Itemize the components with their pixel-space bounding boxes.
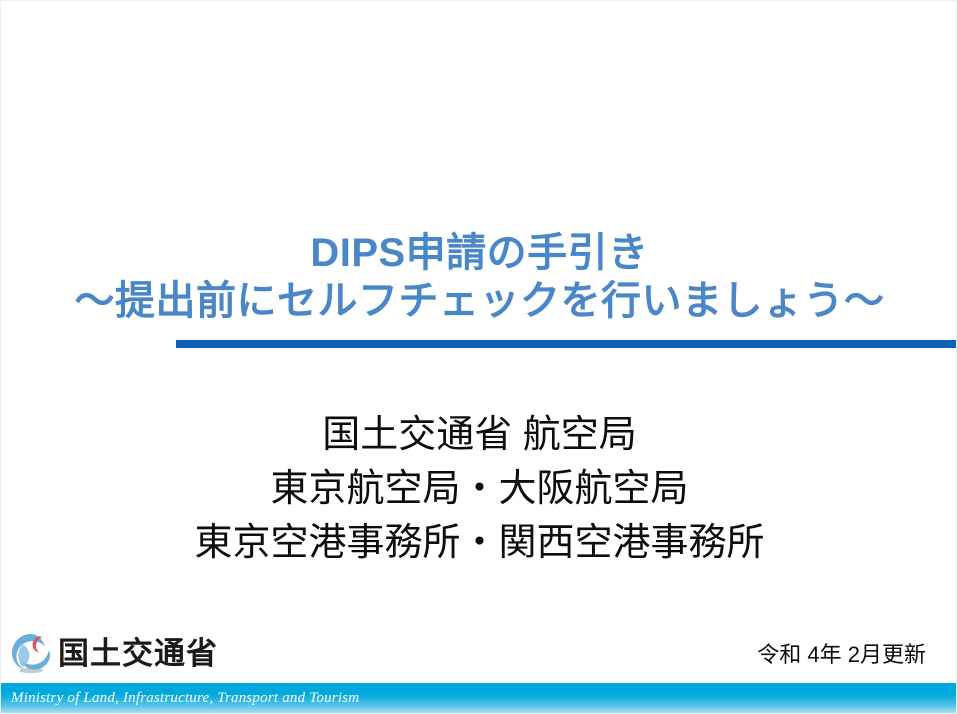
ministry-name-ja: 国土交通省 — [58, 638, 218, 669]
presentation-slide: DIPS申請の手引き 〜提出前にセルフチェックを行いましょう〜 国土交通省 航空… — [0, 0, 957, 714]
ministry-brand: 国土交通省 — [9, 629, 218, 677]
title-underline-rule — [176, 340, 957, 348]
organization-line-2: 東京航空局・大阪航空局 — [1, 463, 957, 517]
mlit-swirl-icon — [9, 631, 53, 675]
organization-line-1: 国土交通省 航空局 — [1, 409, 957, 463]
title-line-subtitle: 〜提出前にセルフチェックを行いましょう〜 — [1, 277, 957, 325]
title-line-primary: DIPS申請の手引き — [1, 229, 957, 277]
update-date-label: 令和 4年 2月更新 — [757, 637, 926, 669]
organization-block: 国土交通省 航空局 東京航空局・大阪航空局 東京空港事務所・関西空港事務所 — [1, 409, 957, 571]
ministry-name-en: Ministry of Land, Infrastructure, Transp… — [11, 690, 359, 707]
organization-line-3: 東京空港事務所・関西空港事務所 — [1, 517, 957, 571]
slide-title: DIPS申請の手引き 〜提出前にセルフチェックを行いましょう〜 — [1, 229, 957, 325]
footer-bar: Ministry of Land, Infrastructure, Transp… — [1, 683, 957, 713]
